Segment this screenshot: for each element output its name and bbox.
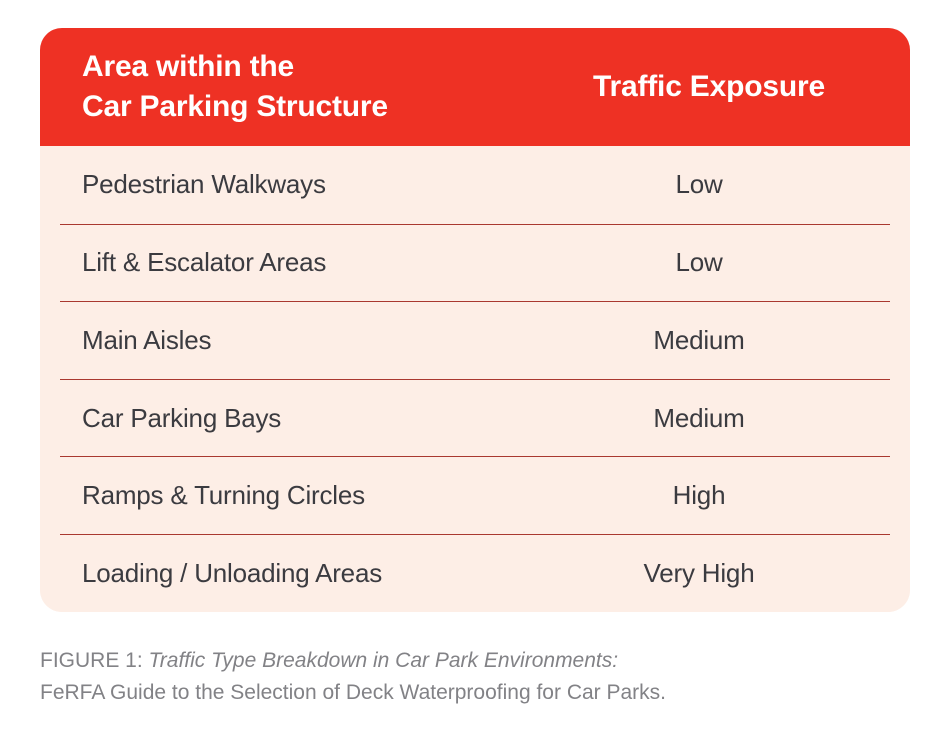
cell-exposure: Medium [540, 325, 890, 356]
figure-caption: FIGURE 1: Traffic Type Breakdown in Car … [40, 645, 920, 709]
figure-caption-title: Traffic Type Breakdown in Car Park Envir… [149, 649, 619, 672]
figure-caption-source: FeRFA Guide to the Selection of Deck Wat… [40, 677, 920, 709]
cell-exposure: Low [540, 247, 890, 278]
table-row: Ramps & Turning Circles High [60, 456, 890, 534]
cell-area: Lift & Escalator Areas [60, 247, 540, 278]
table-header-area-column: Area within the Car Parking Structure [40, 47, 540, 127]
page-root: Area within the Car Parking Structure Tr… [0, 0, 950, 742]
table-row: Loading / Unloading Areas Very High [60, 534, 890, 612]
cell-exposure: Low [540, 169, 890, 200]
table-header-exposure-column: Traffic Exposure [540, 70, 910, 104]
cell-exposure: Very High [540, 558, 890, 589]
table-row: Pedestrian Walkways Low [60, 146, 890, 224]
cell-area: Car Parking Bays [60, 403, 540, 434]
cell-area: Ramps & Turning Circles [60, 480, 540, 511]
table-row: Lift & Escalator Areas Low [60, 224, 890, 302]
table-row: Main Aisles Medium [60, 301, 890, 379]
cell-area: Main Aisles [60, 325, 540, 356]
cell-area: Pedestrian Walkways [60, 169, 540, 200]
cell-exposure: High [540, 480, 890, 511]
figure-table-card: Area within the Car Parking Structure Tr… [40, 28, 910, 612]
figure-caption-label: FIGURE 1: [40, 649, 149, 672]
cell-area: Loading / Unloading Areas [60, 558, 540, 589]
cell-exposure: Medium [540, 403, 890, 434]
table-body: Pedestrian Walkways Low Lift & Escalator… [40, 146, 910, 612]
table-header-row: Area within the Car Parking Structure Tr… [40, 28, 910, 146]
table-row: Car Parking Bays Medium [60, 379, 890, 457]
